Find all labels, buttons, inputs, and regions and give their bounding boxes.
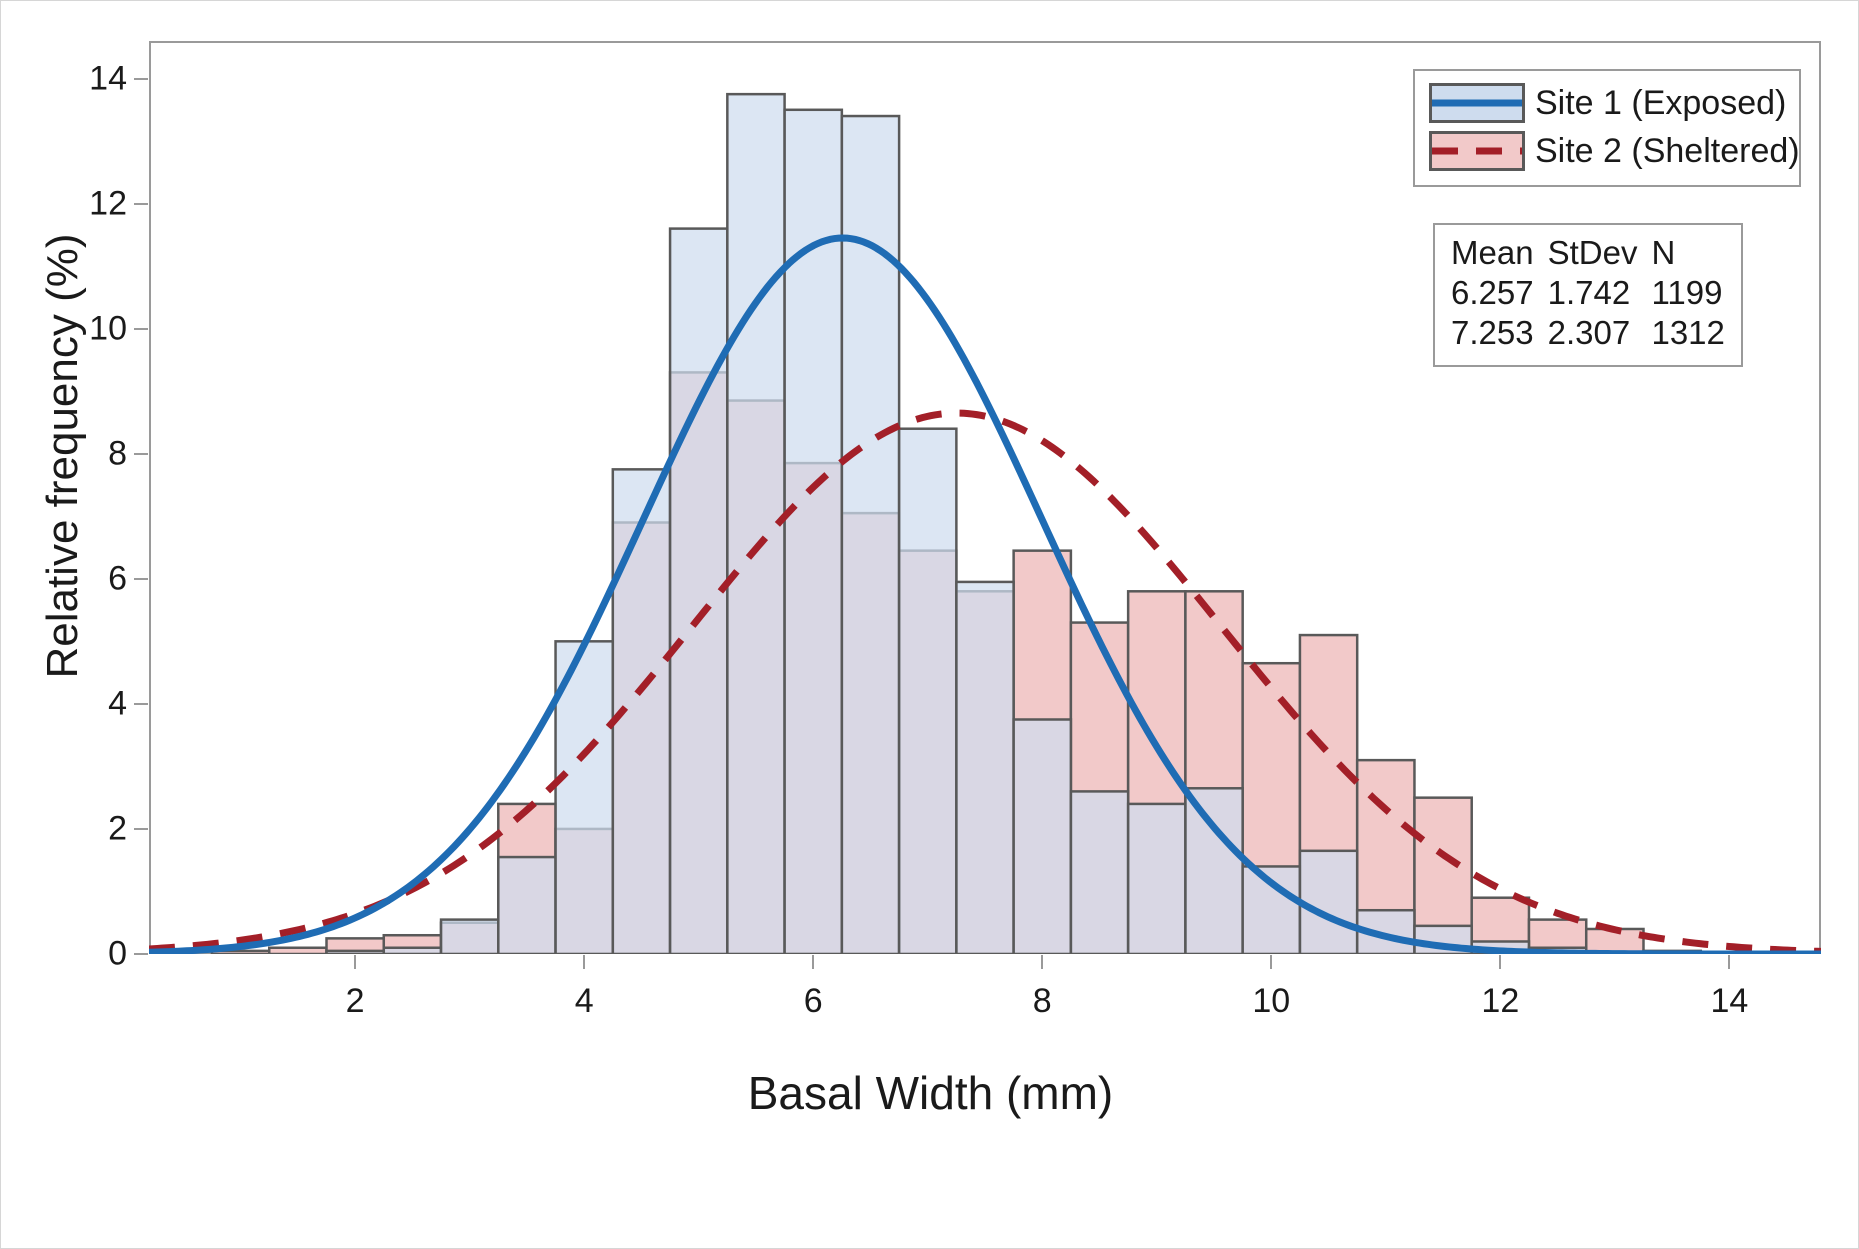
table-row: 6.257 1.742 1199	[1451, 273, 1725, 313]
y-tick-mark	[134, 703, 148, 705]
x-tick-mark	[1041, 955, 1043, 969]
y-tick-mark	[134, 953, 148, 955]
y-tick-mark	[134, 828, 148, 830]
x-tick-label: 12	[1460, 982, 1540, 1021]
chart-figure: Relative frequency (%) 02468101214 24681…	[0, 0, 1859, 1249]
y-tick-mark	[134, 328, 148, 330]
x-tick-label: 14	[1689, 982, 1769, 1021]
legend-swatch-site-1-icon	[1429, 83, 1525, 123]
x-tick-mark	[583, 955, 585, 969]
statistics-table: Mean StDev N 6.257 1.742 1199 7.253 2.30…	[1451, 233, 1725, 353]
legend-item-site-1[interactable]: Site 1 (Exposed)	[1429, 83, 1785, 123]
table-row: 7.253 2.307 1312	[1451, 313, 1725, 353]
statistics-box: Mean StDev N 6.257 1.742 1199 7.253 2.30…	[1433, 223, 1743, 367]
x-tick-mark	[1270, 955, 1272, 969]
y-tick-mark	[134, 453, 148, 455]
y-tick-label: 8	[57, 434, 127, 473]
stat-mean-site-1: 6.257	[1451, 273, 1548, 313]
y-tick-label: 4	[57, 684, 127, 723]
y-tick-label: 14	[57, 59, 127, 98]
x-axis-title: Basal Width (mm)	[1, 1066, 1859, 1120]
legend-label-site-2: Site 2 (Sheltered)	[1525, 132, 1800, 171]
y-tick-mark	[134, 578, 148, 580]
x-tick-label: 4	[544, 982, 624, 1021]
y-tick-mark	[134, 78, 148, 80]
stat-n-site-2: 1312	[1651, 313, 1724, 353]
stat-n-site-1: 1199	[1651, 273, 1724, 313]
x-tick-label: 6	[773, 982, 853, 1021]
x-tick-mark	[812, 955, 814, 969]
stat-mean-site-2: 7.253	[1451, 313, 1548, 353]
stat-stdev-site-2: 2.307	[1548, 313, 1652, 353]
stat-header-mean: Mean	[1451, 233, 1548, 273]
x-tick-mark	[1728, 955, 1730, 969]
x-tick-mark	[354, 955, 356, 969]
y-tick-mark	[134, 203, 148, 205]
legend-swatch-site-2-icon	[1429, 131, 1525, 171]
y-tick-label: 0	[57, 935, 127, 974]
x-tick-label: 10	[1231, 982, 1311, 1021]
legend: Site 1 (Exposed) Site 2 (Sheltered)	[1413, 69, 1801, 187]
y-tick-label: 6	[57, 559, 127, 598]
y-tick-label: 12	[57, 184, 127, 223]
stat-stdev-site-1: 1.742	[1548, 273, 1652, 313]
y-tick-label: 2	[57, 809, 127, 848]
table-header-row: Mean StDev N	[1451, 233, 1725, 273]
x-tick-label: 8	[1002, 982, 1082, 1021]
legend-label-site-1: Site 1 (Exposed)	[1525, 84, 1786, 123]
x-tick-label: 2	[315, 982, 395, 1021]
stat-header-n: N	[1651, 233, 1724, 273]
x-tick-mark	[1499, 955, 1501, 969]
stat-header-stdev: StDev	[1548, 233, 1652, 273]
y-tick-label: 10	[57, 309, 127, 348]
legend-item-site-2[interactable]: Site 2 (Sheltered)	[1429, 131, 1785, 171]
